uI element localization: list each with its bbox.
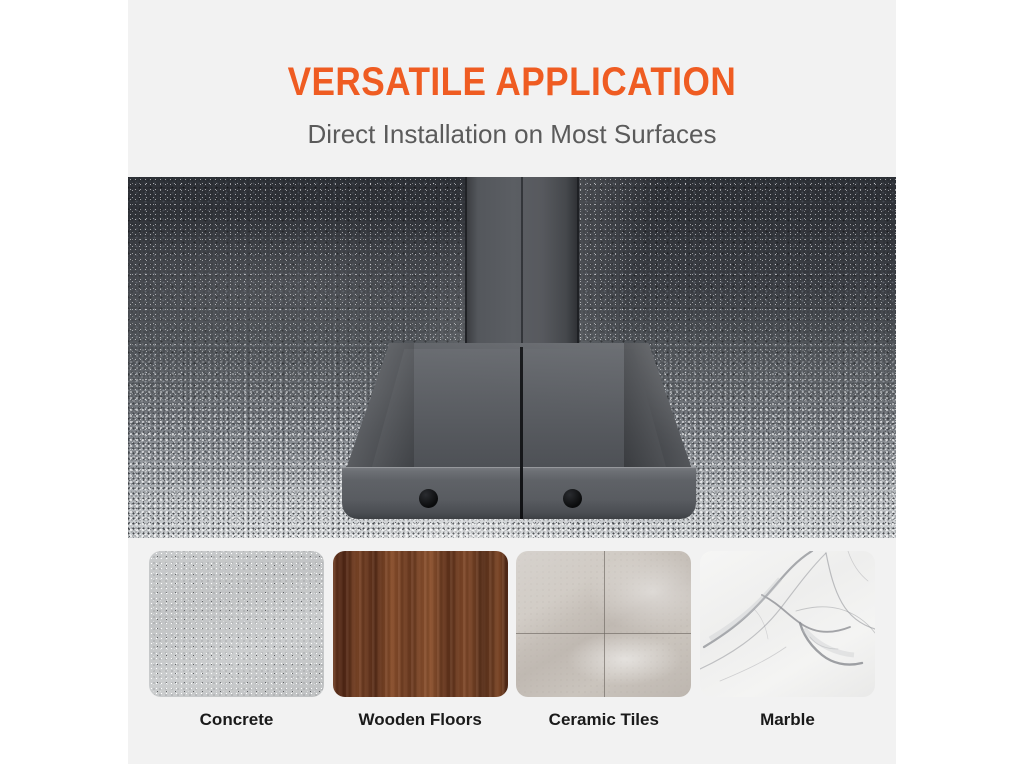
- surface-label-ceramic-tiles: Ceramic Tiles: [516, 711, 691, 728]
- header: VERSATILE APPLICATION Direct Installatio…: [128, 0, 896, 176]
- wood-swatch: [333, 551, 508, 697]
- surface-item-wooden-floors: Wooden Floors: [333, 551, 508, 697]
- surface-label-marble: Marble: [700, 711, 875, 728]
- post-base-plinth: [342, 467, 696, 519]
- post-base-bevel: [372, 349, 666, 467]
- concrete-swatch: [149, 551, 324, 697]
- tile-grout-horizontal: [516, 633, 691, 635]
- surface-label-concrete: Concrete: [149, 711, 324, 728]
- surface-swatch-list: Concrete Wooden Floors Ceramic Tiles: [128, 551, 896, 697]
- surface-item-marble: Marble: [700, 551, 875, 697]
- hero-photo: [128, 177, 896, 538]
- ceramic-tile-swatch: [516, 551, 691, 697]
- surface-item-ceramic-tiles: Ceramic Tiles: [516, 551, 691, 697]
- page-subtitle: Direct Installation on Most Surfaces: [308, 121, 717, 147]
- marble-veining: [700, 551, 875, 697]
- surface-label-wooden-floors: Wooden Floors: [333, 711, 508, 728]
- post-base-center-seam: [520, 347, 523, 475]
- surface-item-concrete: Concrete: [149, 551, 324, 697]
- product-feature-slide: VERSATILE APPLICATION Direct Installatio…: [0, 0, 1024, 768]
- tile-grout-vertical: [604, 551, 606, 697]
- anchor-bolt-hole-left: [419, 489, 438, 508]
- marble-swatch: [700, 551, 875, 697]
- post-base-plinth-seam: [520, 467, 523, 519]
- page-title: VERSATILE APPLICATION: [288, 62, 737, 102]
- anchor-bolt-hole-right: [563, 489, 582, 508]
